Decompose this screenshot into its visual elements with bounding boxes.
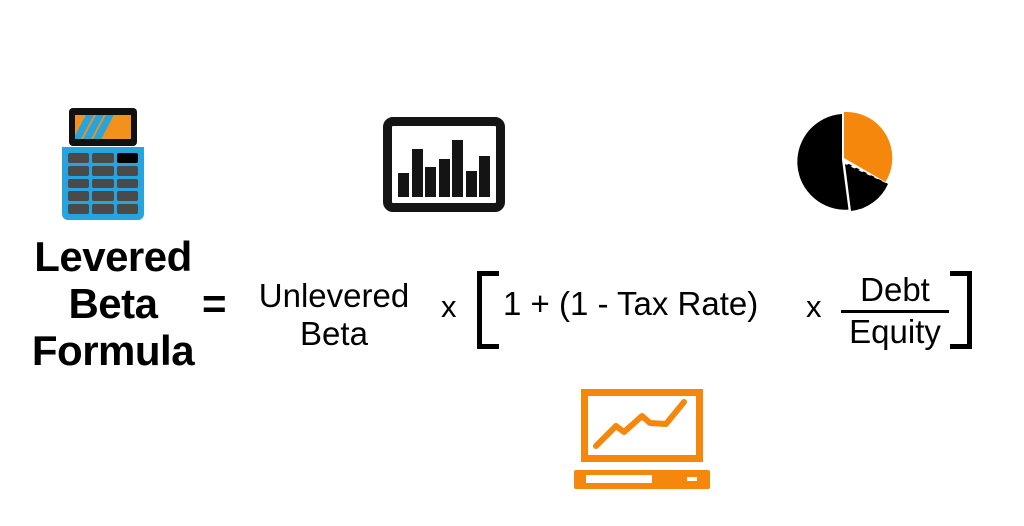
calculator-screen-frame [69, 108, 137, 146]
bar-chart-bar [452, 140, 463, 197]
laptop-line-chart-icon [574, 389, 710, 489]
laptop-base [574, 470, 710, 489]
laptop-keyboard-strip [586, 475, 652, 483]
pie-chart-svg [788, 110, 898, 215]
calculator-key [117, 204, 138, 214]
page-title: Levered Beta Formula [18, 233, 208, 374]
bar-chart-bar [466, 171, 477, 197]
bar-chart-bar [439, 159, 450, 197]
pie-chart-icon [788, 110, 898, 215]
calculator-key [68, 191, 89, 201]
multiply-operator-2: x [806, 291, 822, 322]
calculator-key-highlighted [117, 153, 138, 163]
laptop-trend-line-icon [588, 396, 696, 455]
fraction-numerator: Debt [841, 272, 949, 309]
calculator-key [68, 204, 89, 214]
calculator-key [92, 204, 113, 214]
debt-equity-fraction: Debt Equity [841, 272, 949, 351]
page-title-line-3: Formula [18, 327, 208, 374]
bar-chart-bar [425, 167, 436, 197]
bracket-open [477, 271, 499, 349]
unlevered-beta-line-1: Unlevered [244, 277, 424, 315]
calculator-key [92, 191, 113, 201]
bracket-close [950, 271, 972, 349]
unlevered-beta-line-2: Beta [244, 315, 424, 353]
calculator-key [117, 166, 138, 176]
laptop-screen [581, 389, 703, 462]
calculator-key [117, 179, 138, 189]
bar-chart-icon [383, 117, 505, 212]
inner-expression: 1 + (1 - Tax Rate) [503, 287, 758, 320]
calculator-keypad [62, 147, 144, 220]
bar-chart-bar [479, 156, 490, 197]
pie-slice-black-large [797, 114, 848, 210]
unlevered-beta-term: Unlevered Beta [244, 277, 424, 352]
illustration-canvas: Levered Beta Formula = Unlevered Beta x … [0, 0, 1024, 526]
calculator-screen [75, 115, 131, 139]
bar-chart-bar [412, 149, 423, 197]
calculator-key [92, 166, 113, 176]
calculator-icon [62, 108, 144, 220]
laptop-indicator-mark [687, 477, 697, 481]
fraction-denominator: Equity [841, 314, 949, 351]
bar-chart-bar [398, 173, 409, 197]
bar-chart-bars [398, 135, 490, 197]
page-title-line-1: Levered [18, 233, 208, 280]
equals-sign: = [202, 283, 227, 325]
calculator-key [117, 191, 138, 201]
calculator-key [68, 166, 89, 176]
calculator-key [68, 179, 89, 189]
page-title-line-2: Beta [18, 280, 208, 327]
calculator-key [92, 179, 113, 189]
calculator-key [68, 153, 89, 163]
multiply-operator-1: x [441, 291, 457, 322]
calculator-key [92, 153, 113, 163]
